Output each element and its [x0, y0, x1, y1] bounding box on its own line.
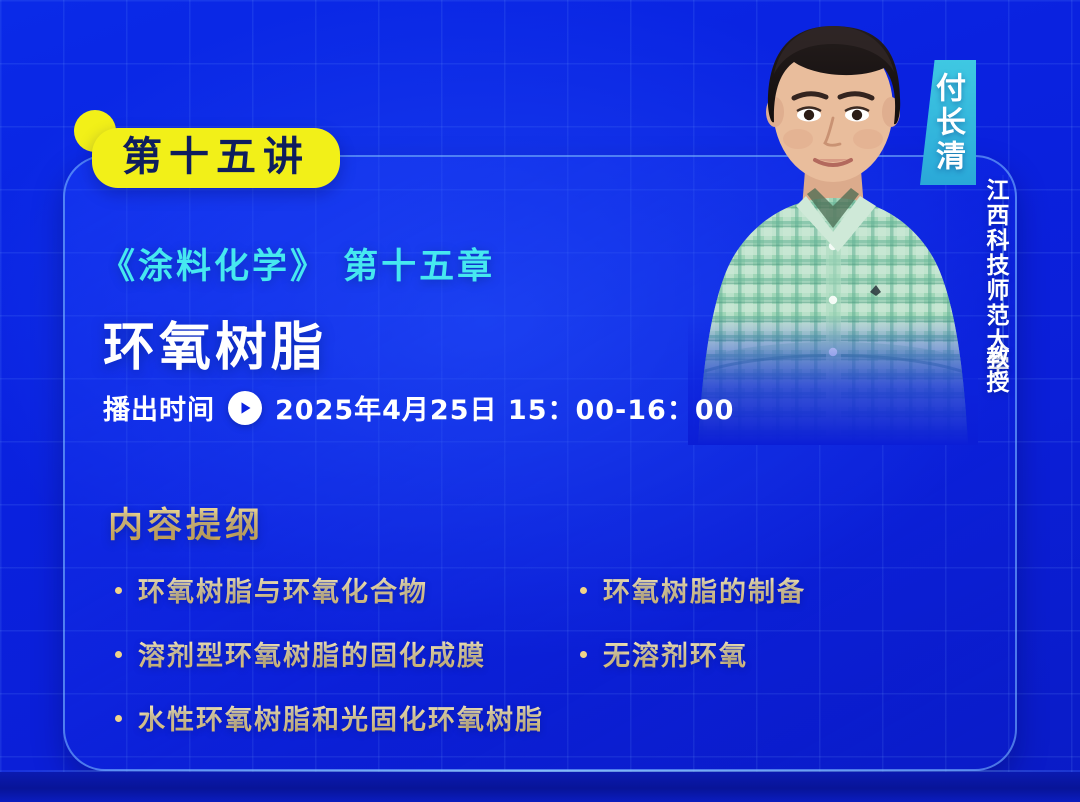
speaker-name: 付长清	[929, 72, 969, 174]
outline-heading: 内容提纲	[108, 497, 264, 548]
bullet-dot-icon	[580, 651, 587, 658]
list-item-label: 无溶剂环氧	[603, 634, 748, 673]
poster-stage: 第十五讲 《涂料化学》 第十五章 环氧树脂 播出时间 2025年4月25日 15…	[0, 0, 1080, 802]
bullet-dot-icon	[115, 715, 122, 722]
lecture-badge: 第十五讲	[72, 108, 340, 188]
page-title: 环氧树脂	[103, 305, 327, 380]
list-item: 水性环氧树脂和光固化环氧树脂	[115, 698, 615, 737]
outline-column-left: 环氧树脂与环氧化合物 溶剂型环氧树脂的固化成膜 水性环氧树脂和光固化环氧树脂	[115, 570, 615, 762]
bottom-band	[0, 772, 1080, 802]
course-subtitle: 《涂料化学》 第十五章	[100, 238, 495, 289]
list-item-label: 环氧树脂的制备	[603, 570, 806, 609]
list-item-label: 溶剂型环氧树脂的固化成膜	[138, 634, 486, 673]
bullet-dot-icon	[115, 651, 122, 658]
lecture-badge-label: 第十五讲	[122, 137, 310, 177]
list-item: 溶剂型环氧树脂的固化成膜	[115, 634, 615, 673]
list-item-label: 环氧树脂与环氧化合物	[138, 570, 428, 609]
list-item: 环氧树脂与环氧化合物	[115, 570, 615, 609]
lecture-badge-pill: 第十五讲	[92, 128, 340, 188]
list-item: 无溶剂环氧	[580, 634, 940, 673]
bullet-dot-icon	[115, 587, 122, 594]
bullet-dot-icon	[580, 587, 587, 594]
outline-column-right: 环氧树脂的制备 无溶剂环氧	[580, 570, 940, 698]
list-item-label: 水性环氧树脂和光固化环氧树脂	[138, 698, 544, 737]
list-item: 环氧树脂的制备	[580, 570, 940, 609]
airtime-row: 播出时间 2025年4月25日 15：00-16：00	[103, 388, 734, 427]
airtime-value: 2025年4月25日 15：00-16：00	[275, 388, 734, 427]
speaker-role: 教授	[978, 345, 1012, 395]
airtime-label: 播出时间	[103, 388, 215, 427]
play-icon[interactable]	[228, 391, 262, 425]
